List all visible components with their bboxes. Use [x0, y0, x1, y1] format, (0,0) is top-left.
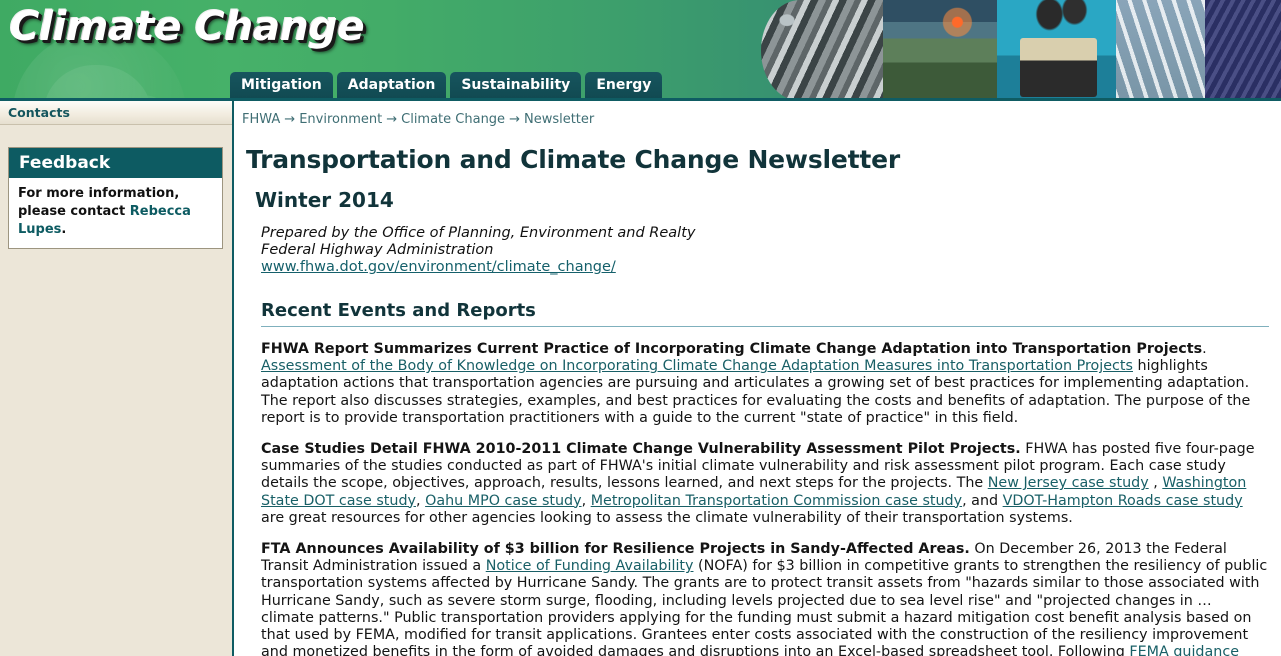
- article-2-sep3: ,: [582, 493, 591, 509]
- prepared-by-line-1: Prepared by the Office of Planning, Envi…: [261, 225, 1269, 242]
- oahu-mpo-case-study-link[interactable]: Oahu MPO case study: [425, 493, 582, 509]
- site-banner: Climate Change Mitigation Adaptation Sus…: [0, 0, 1281, 101]
- prepared-by-block: Prepared by the Office of Planning, Envi…: [261, 225, 1269, 276]
- feedback-box: Feedback For more information, please co…: [8, 147, 223, 249]
- article-case-studies: Case Studies Detail FHWA 2010-2011 Clima…: [261, 441, 1269, 527]
- article-fta-resilience: FTA Announces Availability of $3 billion…: [261, 541, 1269, 656]
- breadcrumb-arrow-icon: →: [505, 112, 524, 127]
- tab-mitigation[interactable]: Mitigation: [230, 72, 333, 98]
- article-2-body-part2: are great resources for other agencies l…: [261, 510, 1073, 526]
- article-2-sep4: , and: [962, 493, 1003, 509]
- feedback-text-after: .: [61, 222, 66, 237]
- breadcrumb-item-newsletter[interactable]: Newsletter: [524, 112, 594, 127]
- sidebar: Contacts Feedback For more information, …: [0, 101, 234, 656]
- fhwa-climate-change-url-link[interactable]: www.fhwa.dot.gov/environment/climate_cha…: [261, 259, 616, 275]
- banner-photo-collage: [761, 0, 1281, 101]
- section-heading-recent-events: Recent Events and Reports: [261, 300, 1269, 327]
- breadcrumb-arrow-icon: →: [280, 112, 299, 127]
- tab-sustainability[interactable]: Sustainability: [450, 72, 581, 98]
- sidebar-contacts-label: Contacts: [8, 105, 70, 120]
- notice-of-funding-availability-link[interactable]: Notice of Funding Availability: [486, 558, 694, 574]
- breadcrumb-item-environment[interactable]: Environment: [299, 112, 382, 127]
- main-content: FHWA→Environment→Climate Change→Newslett…: [234, 101, 1281, 656]
- metropolitan-transportation-commission-case-study-link[interactable]: Metropolitan Transportation Commission c…: [591, 493, 962, 509]
- breadcrumb: FHWA→Environment→Climate Change→Newslett…: [242, 111, 1269, 129]
- fema-guidance-link[interactable]: FEMA guidance: [1129, 644, 1239, 656]
- solar-panel-array-photo: [1205, 0, 1281, 101]
- article-2-sep1: ,: [1149, 475, 1163, 491]
- site-title: Climate Change: [10, 4, 365, 50]
- tab-adaptation[interactable]: Adaptation: [337, 72, 447, 98]
- issue-title: Winter 2014: [255, 188, 1269, 212]
- prepared-by-line-2: Federal Highway Administration: [261, 242, 1269, 259]
- breadcrumb-arrow-icon: →: [382, 112, 401, 127]
- satellite-dish-photo: [1116, 0, 1211, 101]
- traffic-jam-photo: [761, 0, 891, 101]
- wetland-sunset-photo: [883, 0, 1003, 101]
- page-title: Transportation and Climate Change Newsle…: [246, 145, 1269, 174]
- feedback-heading: Feedback: [9, 148, 222, 178]
- article-1-headline: FHWA Report Summarizes Current Practice …: [261, 341, 1202, 357]
- tab-energy[interactable]: Energy: [585, 72, 662, 98]
- new-jersey-case-study-link[interactable]: New Jersey case study: [988, 475, 1149, 491]
- article-1-headline-suffix: .: [1202, 341, 1207, 357]
- breadcrumb-item-climate-change[interactable]: Climate Change: [401, 112, 505, 127]
- article-2-headline: Case Studies Detail FHWA 2010-2011 Clima…: [261, 441, 1021, 457]
- feedback-text: For more information, please contact Reb…: [9, 178, 222, 248]
- article-3-headline: FTA Announces Availability of $3 billion…: [261, 541, 970, 557]
- breadcrumb-item-fhwa[interactable]: FHWA: [242, 112, 280, 127]
- sidebar-contacts-header[interactable]: Contacts: [0, 101, 232, 125]
- primary-nav: Mitigation Adaptation Sustainability Ene…: [230, 72, 662, 98]
- article-2-sep2: ,: [416, 493, 425, 509]
- vdot-hampton-roads-case-study-link[interactable]: VDOT-Hampton Roads case study: [1003, 493, 1243, 509]
- diesel-truck-photo: [997, 0, 1122, 101]
- article-fhwa-report: FHWA Report Summarizes Current Practice …: [261, 341, 1269, 427]
- page-root: Climate Change Mitigation Adaptation Sus…: [0, 0, 1281, 656]
- page-body: Contacts Feedback For more information, …: [0, 101, 1281, 656]
- assessment-body-of-knowledge-link[interactable]: Assessment of the Body of Knowledge on I…: [261, 358, 1133, 374]
